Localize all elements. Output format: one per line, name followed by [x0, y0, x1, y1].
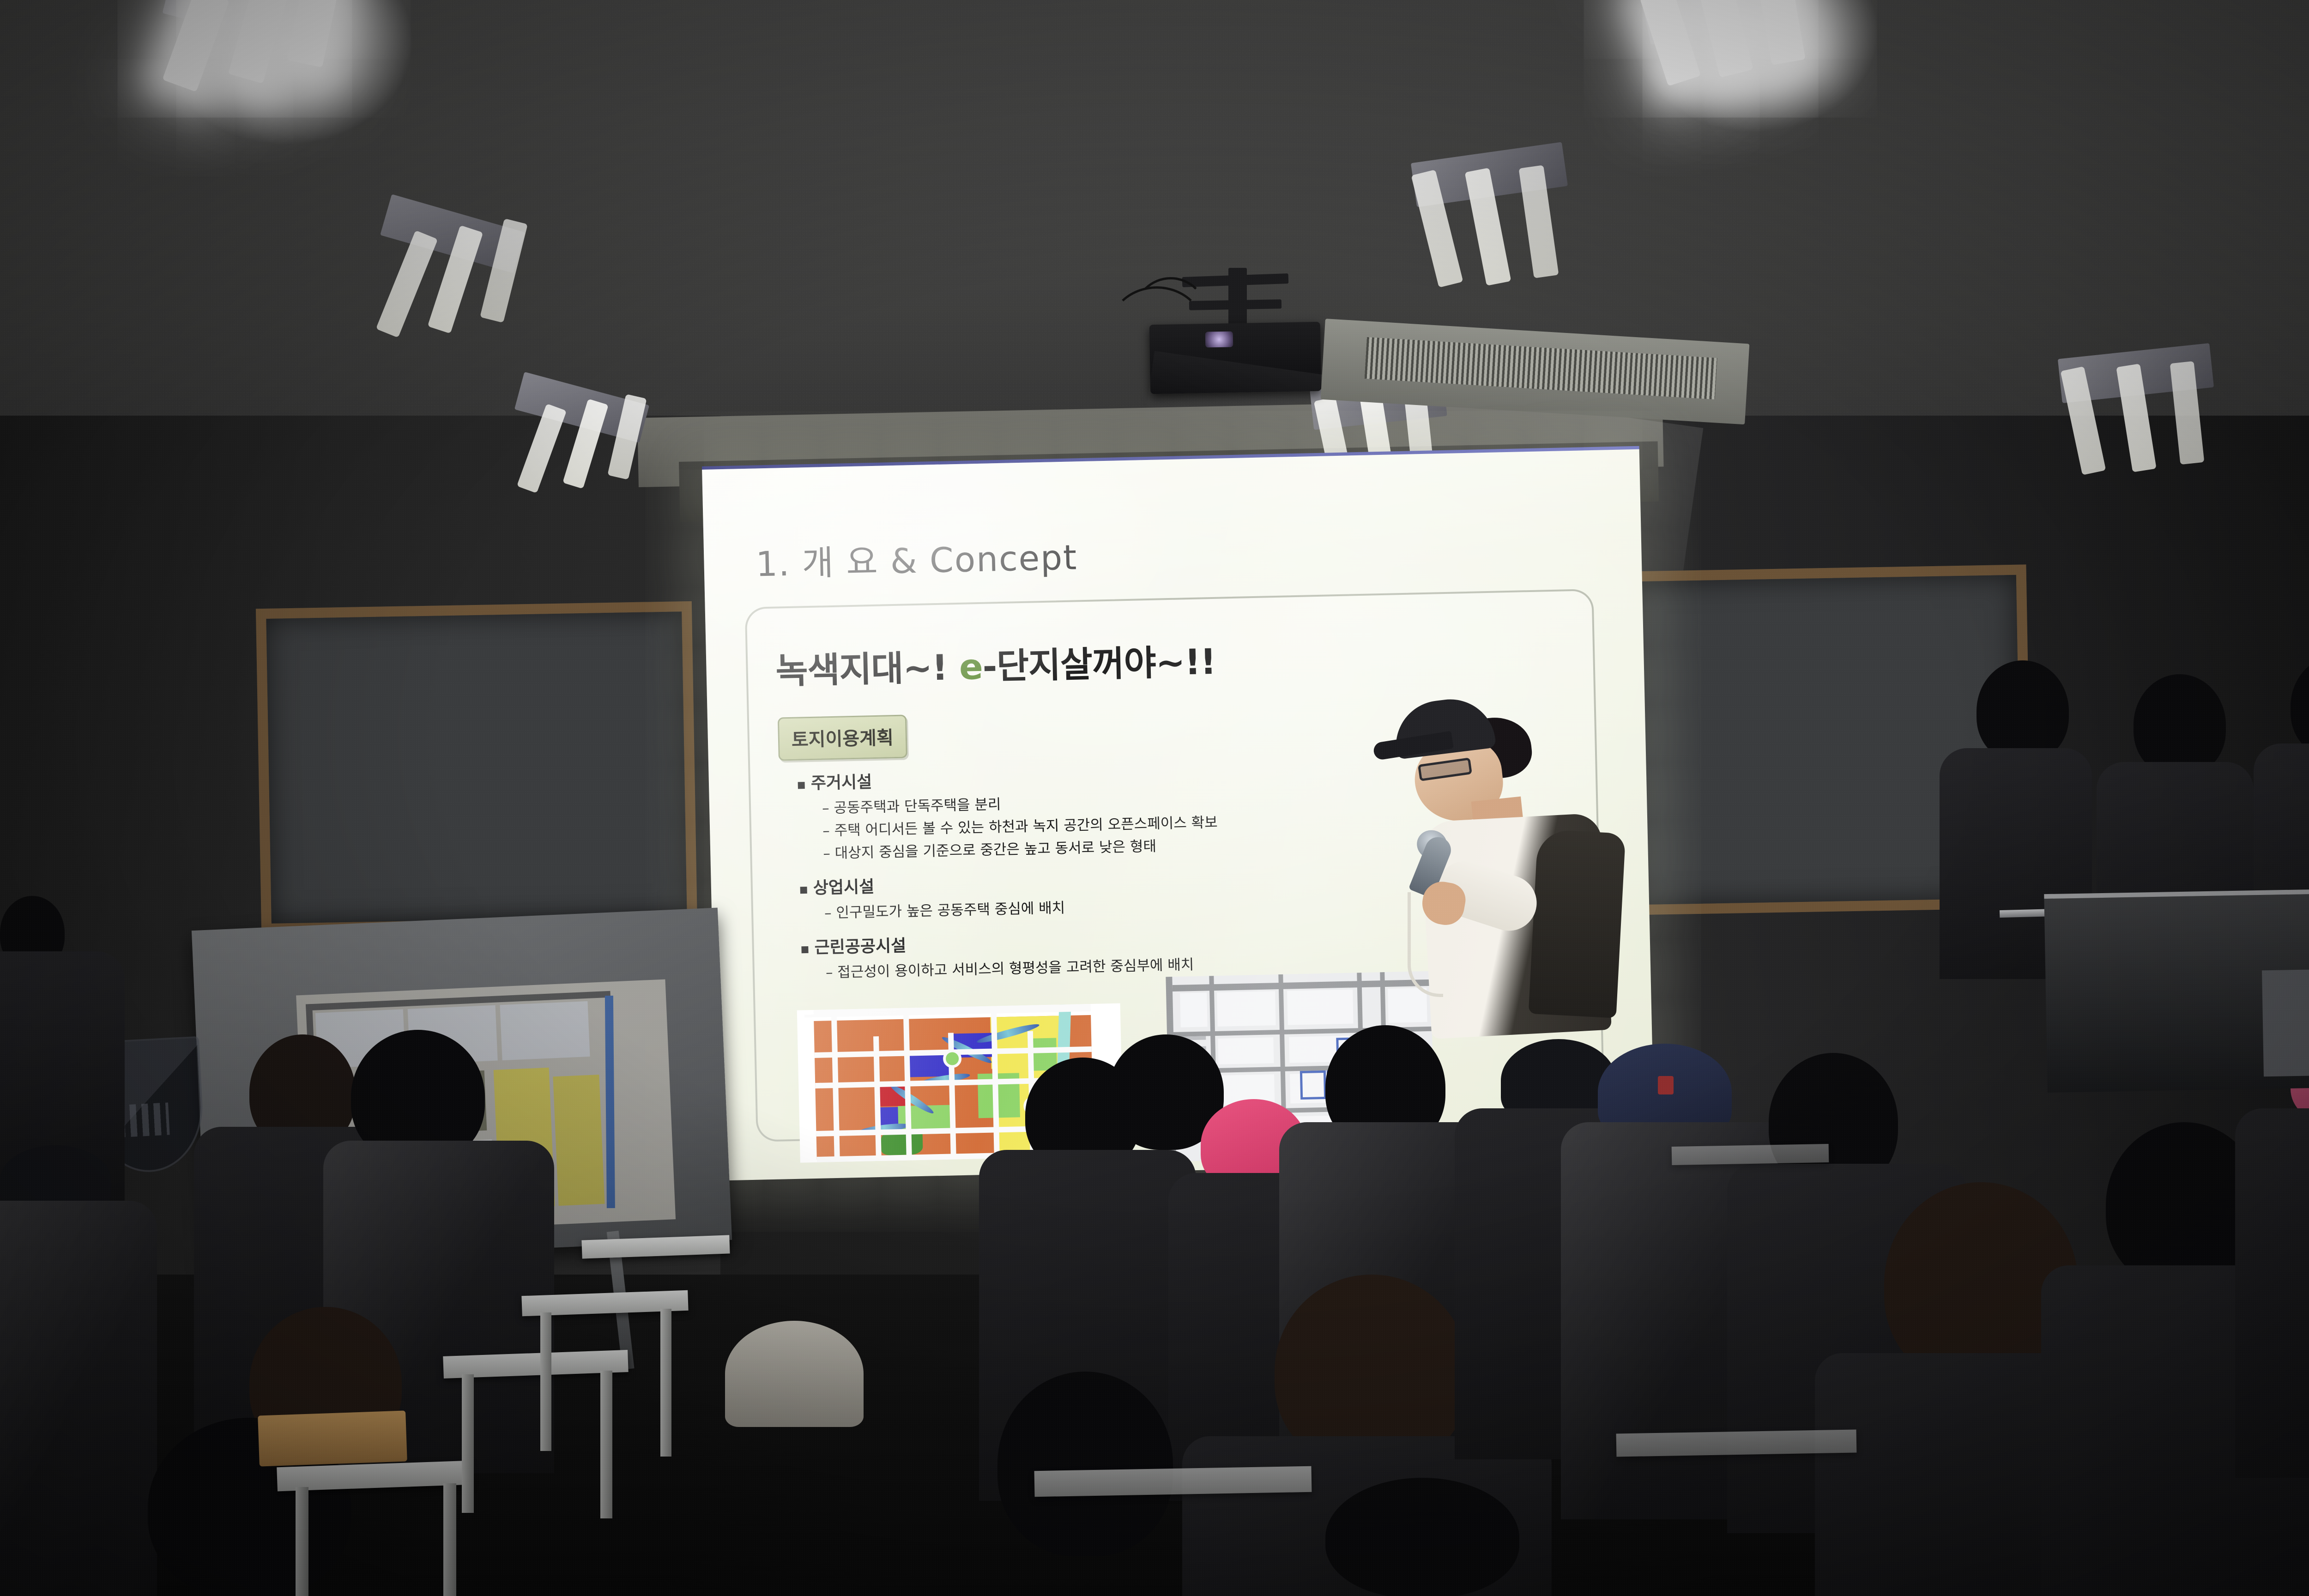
headline-suffix: -단지살꺼야~!! [982, 641, 1216, 687]
slide-section-tag: 토지이용계획 [778, 714, 907, 761]
poster-parcel [500, 1001, 590, 1060]
whiteboard-left [256, 601, 697, 934]
poster-zone-yellow [553, 1075, 604, 1206]
ceiling-projector [1149, 322, 1322, 394]
desk-leg [660, 1309, 671, 1457]
headline-prefix: 녹색지대~! [775, 647, 960, 692]
plan-parcel [1180, 992, 1208, 1027]
projector-lens [1205, 331, 1233, 347]
desk-top [1672, 1144, 1829, 1165]
lectern-panel [2262, 969, 2309, 1077]
plan-parcel [1218, 1037, 1274, 1064]
audience-head [1325, 1478, 1519, 1596]
desk-leg [296, 1487, 308, 1596]
audience-coat [2235, 1108, 2309, 1478]
standing-person-head [2134, 674, 2226, 776]
audience-hood [725, 1321, 864, 1427]
desk-leg [443, 1483, 456, 1596]
lecture-hall-photo: 1. 개 요 & Concept 녹색지대~! e-단지살꺼야~!! 토지이용계… [0, 0, 2309, 1596]
headline-accent: e [959, 646, 983, 688]
cap-logo [1658, 1076, 1674, 1094]
plan-parcel [1287, 990, 1354, 1025]
desk-leg [462, 1374, 474, 1513]
desk-leg [540, 1312, 551, 1451]
desk-leg [600, 1371, 612, 1518]
presenter-sleeve [1529, 829, 1626, 1018]
standing-person-head [1977, 660, 2069, 762]
plan-parcel [1217, 991, 1276, 1027]
desk-top [1616, 1429, 1857, 1457]
presenter [1367, 683, 1662, 1034]
poster-river [605, 996, 615, 1208]
crest-emblem [117, 1102, 170, 1137]
audience-coat [0, 1201, 157, 1596]
slide-title: 1. 개 요 & Concept [755, 530, 1078, 586]
ceiling [0, 0, 2309, 466]
audience-head [997, 1372, 1173, 1556]
chair-back [258, 1410, 407, 1466]
microphone-cord [1408, 892, 1443, 997]
plan-building-outline [1300, 1070, 1326, 1100]
slide-headline: 녹색지대~! e-단지살꺼야~!! [775, 633, 1216, 694]
ceiling-texture [0, 0, 2309, 466]
desk-top [1034, 1466, 1312, 1497]
